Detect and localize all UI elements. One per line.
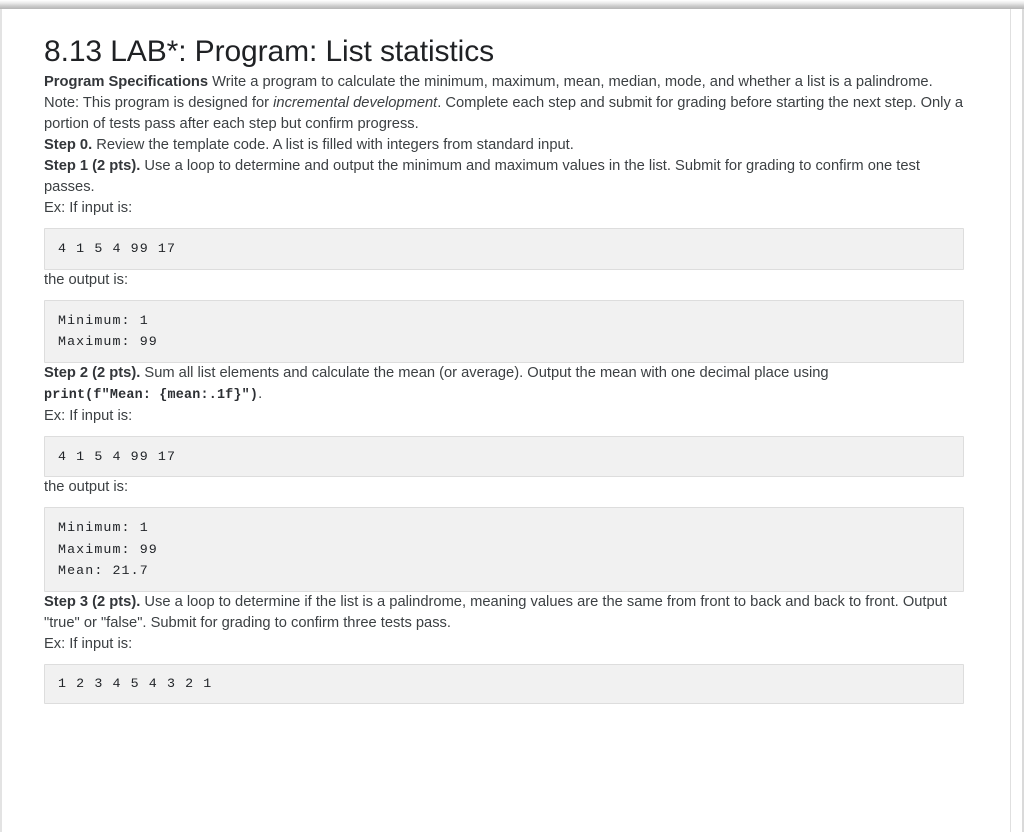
step-2-label: Step 2 (2 pts). <box>44 365 140 381</box>
step-2-input-caption: Ex: If input is: <box>44 406 965 427</box>
step-3-input-code-block: 1 2 3 4 5 4 3 2 1 <box>44 664 964 705</box>
program-specifications-paragraph: Program Specifications Write a program t… <box>44 72 965 93</box>
step-0-paragraph: Step 0. Review the template code. A list… <box>44 135 965 156</box>
browser-viewport: 8.13 LAB*: Program: List statistics Prog… <box>0 0 1024 832</box>
step-1-text: Use a loop to determine and output the m… <box>44 158 920 195</box>
page-title: 8.13 LAB*: Program: List statistics <box>44 9 965 72</box>
step-1-output-code-block: Minimum: 1 Maximum: 99 <box>44 300 964 363</box>
window-chrome-strip <box>0 0 1024 9</box>
step-3-paragraph: Step 3 (2 pts). Use a loop to determine … <box>44 592 965 634</box>
note-emphasis: incremental development <box>273 95 437 111</box>
step-2-text-after-code: . <box>258 386 262 402</box>
step-0-text: Review the template code. A list is fill… <box>92 137 574 153</box>
step-3-input-caption: Ex: If input is: <box>44 634 965 655</box>
program-specifications-text: Write a program to calculate the minimum… <box>208 74 933 90</box>
lab-content: 8.13 LAB*: Program: List statistics Prog… <box>44 9 965 704</box>
step-1-label: Step 1 (2 pts). <box>44 158 140 174</box>
step-2-paragraph: Step 2 (2 pts). Sum all list elements an… <box>44 363 965 406</box>
step-1-input-code-block: 4 1 5 4 99 17 <box>44 228 964 270</box>
program-specifications-label: Program Specifications <box>44 74 208 90</box>
lab-page-panel: 8.13 LAB*: Program: List statistics Prog… <box>0 9 1024 832</box>
step-1-paragraph: Step 1 (2 pts). Use a loop to determine … <box>44 156 965 198</box>
step-0-label: Step 0. <box>44 137 92 153</box>
step-3-text: Use a loop to determine if the list is a… <box>44 594 947 631</box>
note-paragraph: Note: This program is designed for incre… <box>44 93 965 135</box>
step-1-output-caption: the output is: <box>44 270 965 291</box>
step-1-input-caption: Ex: If input is: <box>44 198 965 219</box>
step-2-output-code-block: Minimum: 1 Maximum: 99 Mean: 21.7 <box>44 507 964 592</box>
step-2-output-caption: the output is: <box>44 477 965 498</box>
note-prefix: Note: This program is designed for <box>44 95 273 111</box>
step-2-input-code-block: 4 1 5 4 99 17 <box>44 436 964 478</box>
step-2-text-before-code: Sum all list elements and calculate the … <box>140 365 828 381</box>
step-2-print-statement-code: print(f"Mean: {mean:.1f}") <box>44 388 258 403</box>
step-3-label: Step 3 (2 pts). <box>44 594 140 610</box>
